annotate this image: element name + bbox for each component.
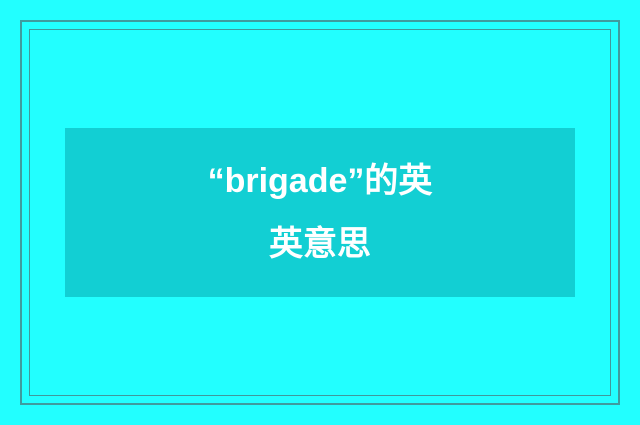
title-panel: “brigade”的英英意思	[65, 128, 575, 297]
card-canvas: “brigade”的英英意思	[0, 0, 640, 425]
page-title: “brigade”的英英意思	[191, 150, 449, 276]
